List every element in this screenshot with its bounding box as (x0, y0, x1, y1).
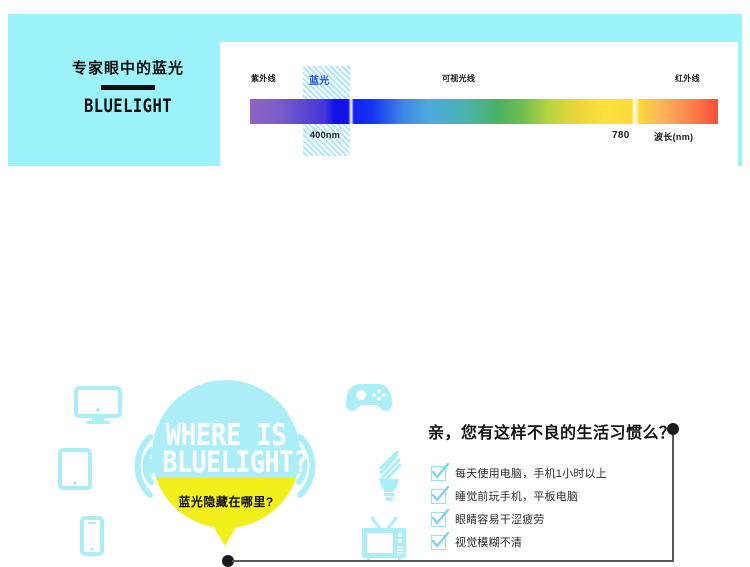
label-infrared: 红外线 (675, 73, 700, 84)
bubble-caption: 蓝光隐藏在哪里? (152, 493, 300, 510)
habits-checklist: 每天使用电脑，手机1小时以上 睡觉前玩手机，平板电脑 眼睛容易干涩疲劳 (431, 463, 681, 555)
label-780: 780 (612, 130, 630, 141)
checkbox-checked-icon[interactable] (431, 535, 446, 550)
list-item[interactable]: 每天使用电脑，手机1小时以上 (431, 463, 681, 483)
label-visible-light: 可视光线 (442, 73, 475, 84)
signal-waves-left-icon (110, 431, 155, 501)
list-item-label: 睡觉前玩手机，平板电脑 (455, 488, 578, 504)
brand-en-title: BLUELIGHT (54, 95, 202, 117)
signal-waves-right-icon (295, 431, 340, 501)
connector-horizontal-line (232, 560, 674, 562)
spectrum-inner: 紫外线 蓝光 可视光线 红外线 400nm 780 波长(nm) (220, 42, 738, 171)
monitor-icon (74, 386, 122, 426)
question-title: 亲，您有这样不良的生活习惯么？ (428, 419, 676, 443)
checkbox-checked-icon[interactable] (431, 512, 446, 527)
list-item[interactable]: 眼睛容易干涩疲劳 (431, 509, 681, 529)
label-wavelength-unit: 波长(nm) (654, 130, 693, 143)
cfl-bulb-icon (373, 451, 405, 503)
tv-icon (358, 516, 410, 562)
gamepad-icon (345, 381, 393, 413)
brand-cn-title: 专家眼中的蓝光 (38, 60, 218, 78)
label-blue-light: 蓝光 (309, 72, 330, 87)
top-banner: 专家眼中的蓝光 BLUELIGHT 紫外线 蓝光 可视光线 红外线 400nm … (8, 14, 742, 166)
smartphone-icon (80, 516, 104, 556)
bubble-text-group: WHERE IS BLUELIGHT? 蓝光隐藏在哪里? (152, 380, 300, 528)
tablet-icon (58, 448, 92, 490)
list-item[interactable]: 睡觉前玩手机，平板电脑 (431, 486, 681, 506)
infographic-page: 专家眼中的蓝光 BLUELIGHT 紫外线 蓝光 可视光线 红外线 400nm … (0, 0, 750, 407)
bubble-headline-line1: WHERE IS (162, 422, 289, 449)
bubble-headline: WHERE IS BLUELIGHT? (152, 422, 300, 476)
bubble-headline-line2: BLUELIGHT? (162, 449, 289, 476)
label-400nm: 400nm (310, 130, 340, 140)
spectrum-panel: 紫外线 蓝光 可视光线 红外线 400nm 780 波长(nm) (220, 42, 738, 171)
checkbox-checked-icon[interactable] (431, 466, 446, 481)
checkbox-checked-icon[interactable] (431, 489, 446, 504)
list-item-label: 眼睛容易干涩疲劳 (455, 511, 545, 527)
brand-divider (101, 85, 155, 90)
brand-block: 专家眼中的蓝光 BLUELIGHT (38, 60, 218, 117)
list-item-label: 每天使用电脑，手机1小时以上 (455, 465, 607, 481)
label-ultraviolet: 紫外线 (251, 73, 276, 84)
list-item[interactable]: 视觉模糊不清 (431, 532, 681, 552)
spectrum-gradient-bar (250, 99, 718, 124)
bottom-section: WHERE IS BLUELIGHT? 蓝光隐藏在哪里? 亲，您有这样不良的生活… (0, 176, 750, 407)
list-item-label: 视觉模糊不清 (455, 534, 522, 550)
